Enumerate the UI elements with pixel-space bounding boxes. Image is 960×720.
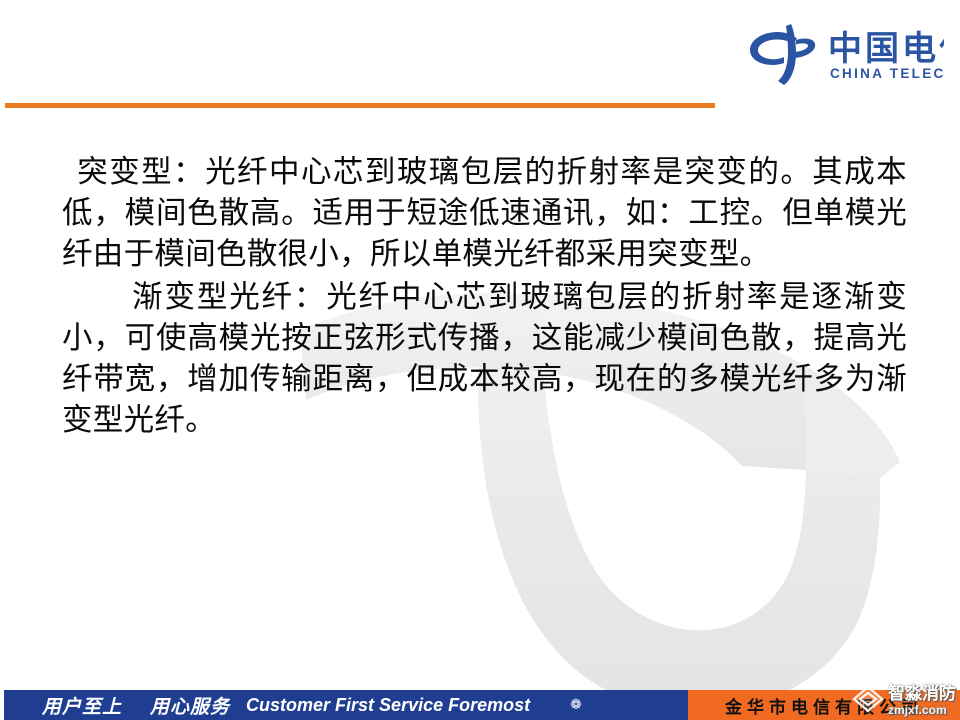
footer-slogan-en: Customer First Service Foremost xyxy=(246,695,530,716)
footer-company-name: 金华市电信有限公司 xyxy=(725,693,923,718)
footer-slogan-area: 用户至上 用心服务 Customer First Service Foremos… xyxy=(0,690,688,720)
svg-text:中国电信: 中国电信 xyxy=(828,30,944,68)
slide-body: 突变型：光纤中心芯到玻璃包层的折射率是突变的。其成本低，模间色散高。适用于短途低… xyxy=(62,152,907,441)
footer-slogan-cn-1: 用户至上 xyxy=(42,692,122,719)
china-telecom-logo: 中国电信 CHINA TELECOM xyxy=(744,18,944,90)
footer-slogan-cn-2: 用心服务 xyxy=(150,692,230,719)
header-divider xyxy=(5,103,715,108)
footer-ornament-icon: ❁ xyxy=(570,697,582,713)
svg-text:CHINA TELECOM: CHINA TELECOM xyxy=(830,66,944,81)
slide-canvas: 中国电信 CHINA TELECOM 突变型：光纤中心芯到玻璃包层的折射率是突变… xyxy=(0,0,960,720)
footer-bar: 用户至上 用心服务 Customer First Service Foremos… xyxy=(0,690,960,720)
paragraph-graded-index-fiber: 渐变型光纤：光纤中心芯到玻璃包层的折射率是逐渐变小，可使高模光按正弦形式传播，这… xyxy=(62,277,907,441)
footer-company-area: 金华市电信有限公司 xyxy=(688,690,960,720)
paragraph-step-index-fiber: 突变型：光纤中心芯到玻璃包层的折射率是突变的。其成本低，模间色散高。适用于短途低… xyxy=(62,152,907,275)
